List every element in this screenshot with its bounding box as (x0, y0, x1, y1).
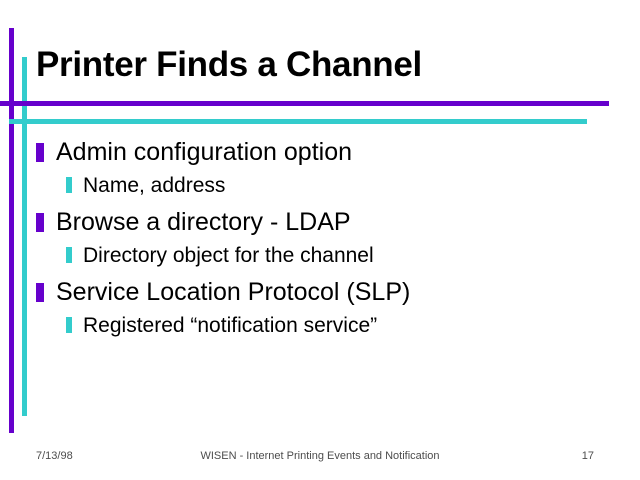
slide-title: Printer Finds a Channel (36, 44, 596, 86)
bullet-item-level1: Admin configuration option (36, 136, 616, 169)
square-bullet-icon (66, 317, 72, 333)
square-bullet-icon (66, 247, 72, 263)
bullet-item-level1: Service Location Protocol (SLP) (36, 276, 616, 309)
horizontal-purple-rule (0, 101, 609, 106)
bullet-item-level2: Directory object for the channel (36, 241, 616, 270)
presentation-slide: Printer Finds a Channel Admin configurat… (0, 0, 640, 480)
vertical-cyan-rule (22, 57, 27, 416)
bullet-item-level1: Browse a directory - LDAP (36, 206, 616, 239)
bullet-item-level2: Name, address (36, 171, 616, 200)
bullet-item-level2: Registered “notification service” (36, 311, 616, 340)
square-bullet-icon (36, 283, 44, 302)
bullet-text: Name, address (83, 171, 225, 200)
slide-bullet-list: Admin configuration option Name, address… (36, 136, 616, 346)
square-bullet-icon (36, 213, 44, 232)
slide-footer: 7/13/98 WISEN - Internet Printing Events… (0, 450, 640, 468)
bullet-text: Registered “notification service” (83, 311, 377, 340)
bullet-text: Directory object for the channel (83, 241, 374, 270)
vertical-purple-rule (9, 28, 14, 433)
footer-page-number: 17 (582, 450, 594, 462)
footer-title: WISEN - Internet Printing Events and Not… (0, 450, 640, 462)
horizontal-cyan-rule (9, 119, 587, 124)
bullet-text: Admin configuration option (56, 136, 352, 169)
square-bullet-icon (36, 143, 44, 162)
bullet-text: Service Location Protocol (SLP) (56, 276, 410, 309)
bullet-text: Browse a directory - LDAP (56, 206, 351, 239)
square-bullet-icon (66, 177, 72, 193)
